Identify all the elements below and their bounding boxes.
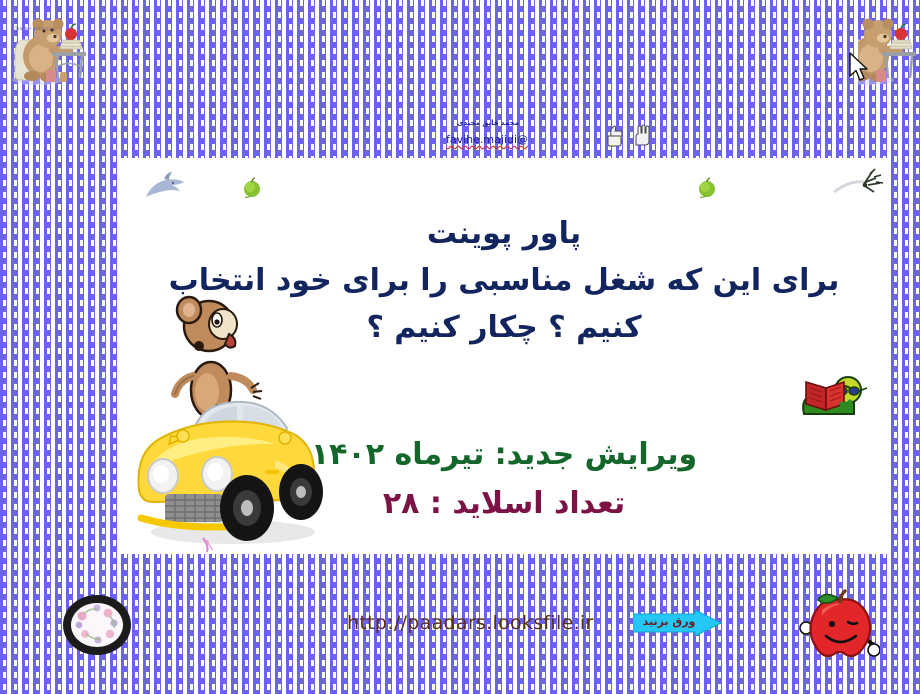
green-apple-icon bbox=[695, 176, 719, 200]
author-name: محمد فایق مجیدی bbox=[443, 119, 533, 128]
slide-count-line: تعداد اسلاید : ۲۸ bbox=[120, 479, 888, 528]
thumbs-up-icon bbox=[604, 123, 656, 147]
green-bookworm-icon bbox=[798, 372, 870, 420]
teddy-bear-left-image bbox=[8, 8, 90, 88]
winking-red-apple-character bbox=[798, 588, 880, 664]
green-apple-icon bbox=[240, 176, 264, 200]
slide-canvas[interactable]: پاور پوینت برای این که شغل مناسبی را برا… bbox=[120, 158, 888, 554]
slide-title-line-2: برای این که شغل مناسبی را برای خود انتخا… bbox=[120, 257, 888, 304]
slide-subtitle-block: ویرایش جدید: تیرماه ۱۴۰۲ تعداد اسلاید : … bbox=[120, 430, 888, 528]
slide-title-block: پاور پوینت برای این که شغل مناسبی را برا… bbox=[120, 210, 888, 351]
dolphin-icon bbox=[140, 170, 188, 200]
floral-emblem-logo bbox=[62, 594, 132, 656]
slide-title-line-3: کنیم ؟ چکار کنیم ؟ bbox=[120, 304, 888, 351]
site-url-text: http://paadars.looksfile.ir bbox=[347, 612, 594, 634]
presentation-page: محمد فایق مجیدی favihe.majidi@ bbox=[0, 0, 922, 694]
mouse-cursor-icon bbox=[848, 52, 870, 82]
next-slide-button[interactable]: ورق بزنید bbox=[633, 610, 723, 636]
slide-title-line-1: پاور پوینت bbox=[120, 210, 888, 257]
author-email: favihe.majidi@ bbox=[437, 133, 537, 146]
plant-branch-icon bbox=[832, 166, 884, 200]
edition-line: ویرایش جدید: تیرماه ۱۴۰۲ bbox=[120, 430, 888, 479]
emblem-label: Teacher . Learning bbox=[0, 26, 70, 31]
